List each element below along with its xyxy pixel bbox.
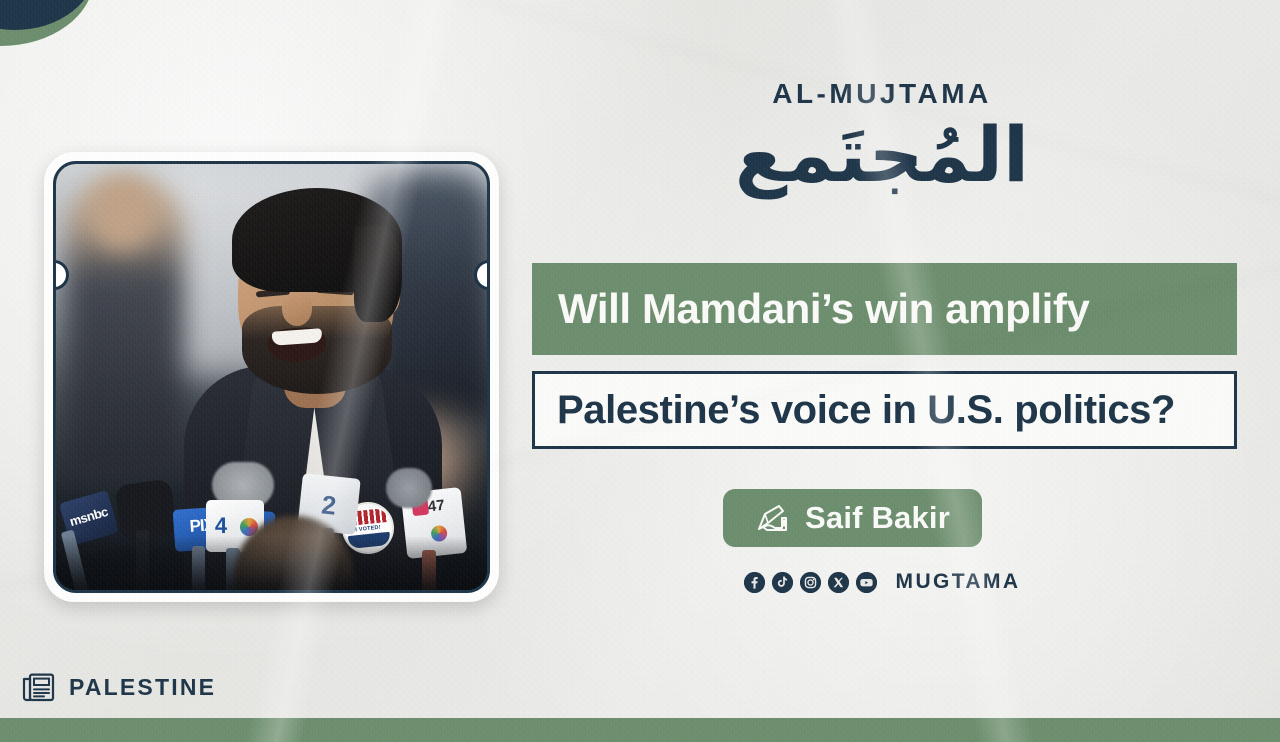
mic-head <box>386 468 432 508</box>
news-photo: I VOTED! msnbc <box>56 164 487 590</box>
section-badge: PALESTINE <box>22 672 216 702</box>
social-handle: MUGTAMA <box>896 570 1021 594</box>
newspaper-icon <box>22 672 56 702</box>
microphone-cluster: msnbc PIX <box>56 454 487 590</box>
writing-hand-icon <box>755 503 791 533</box>
photo-background-person-left-head <box>90 176 156 250</box>
author-chip[interactable]: Saif Bakir <box>723 489 982 547</box>
social-row: MUGTAMA <box>527 570 1237 594</box>
section-label: PALESTINE <box>69 674 216 701</box>
facebook-icon[interactable] <box>744 572 765 593</box>
subject-hair-side <box>354 226 402 322</box>
content-column: AL-MUJTAMA المُجتَمع Will Mamdani’s win … <box>527 0 1237 742</box>
mic-label: msnbc <box>62 502 114 530</box>
headline-banner-secondary: Palestine’s voice in U.S. politics? <box>532 371 1237 449</box>
instagram-icon[interactable] <box>800 572 821 593</box>
brand-lockup: AL-MUJTAMA المُجتَمع <box>527 78 1237 196</box>
brand-latin-name: AL-MUJTAMA <box>527 78 1237 110</box>
tiktok-icon[interactable] <box>772 572 793 593</box>
brand-arabic-name: المُجتَمع <box>527 114 1237 196</box>
microphone-msnbc: msnbc <box>64 496 114 540</box>
headline-line-2: Palestine’s voice in U.S. politics? <box>557 388 1175 433</box>
subject-nose <box>282 292 312 326</box>
poster-canvas: I VOTED! msnbc <box>0 0 1280 742</box>
youtube-icon[interactable] <box>856 572 877 593</box>
photo-frame: I VOTED! msnbc <box>53 161 490 593</box>
photo-card: I VOTED! msnbc <box>44 152 499 602</box>
author-name: Saif Bakir <box>805 500 950 536</box>
x-twitter-icon[interactable] <box>828 572 849 593</box>
photo-bottom-shadow <box>56 536 487 590</box>
headline-line-1: Will Mamdani’s win amplify <box>558 285 1089 333</box>
footer-bar <box>0 718 1280 742</box>
headline-banner-primary: Will Mamdani’s win amplify <box>532 263 1237 355</box>
